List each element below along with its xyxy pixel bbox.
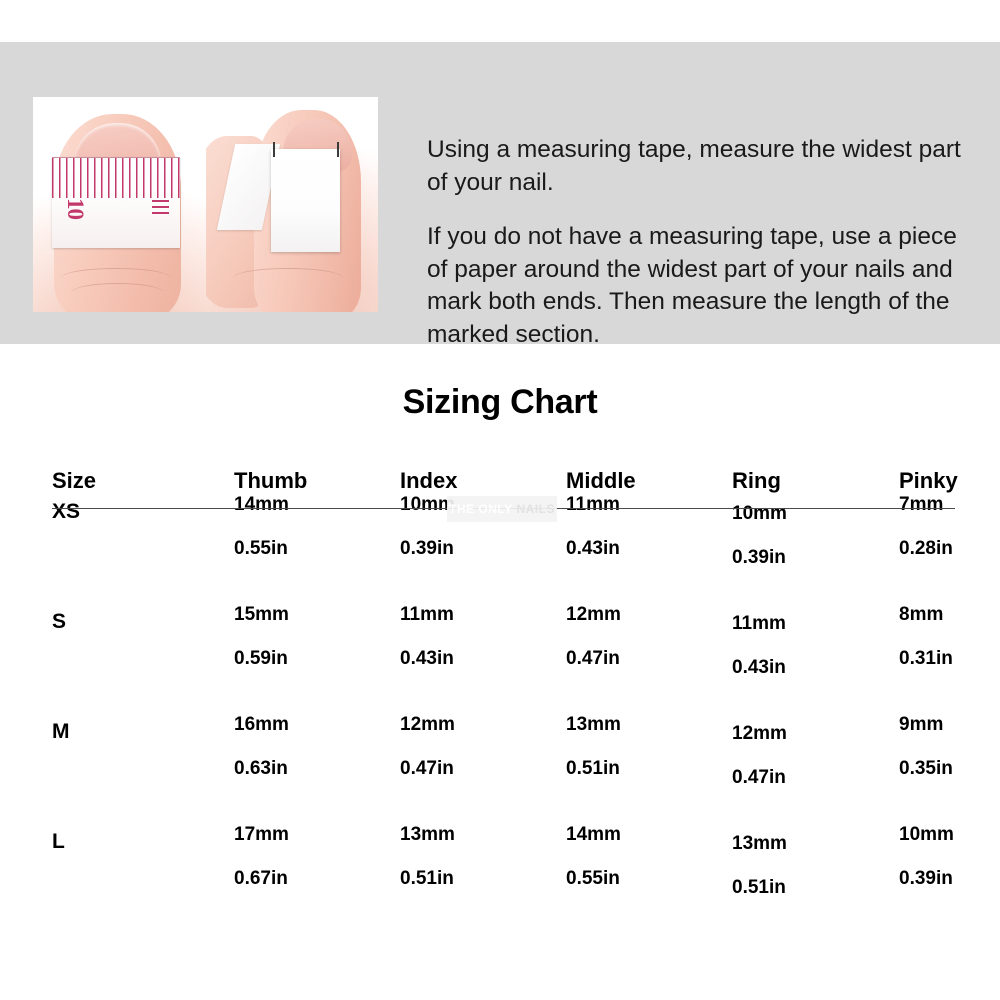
row-size-label: M [52, 714, 234, 824]
cell-middle: 13mm 0.51in [566, 714, 732, 824]
cell-value-mm: 8mm [899, 604, 955, 626]
tape-ticks [52, 158, 180, 198]
cell-value-mm: 12mm [732, 723, 899, 745]
instruction-photo-strip: 10 [33, 97, 378, 312]
table-row: M 16mm 0.63in 12mm 0.47in 13mm 0.51in 12… [52, 714, 955, 824]
row-size-label: L [52, 824, 234, 934]
cell-thumb: 16mm 0.63in [234, 714, 400, 824]
cell-value-in: 0.28in [899, 538, 955, 560]
paper-strip-band [271, 149, 340, 252]
cell-value-in: 0.31in [899, 648, 955, 670]
sizing-chart-table: Size Thumb Index Middle Ring Pinky XS 14… [52, 468, 955, 934]
instruction-text-block: Using a measuring tape, measure the wide… [427, 134, 979, 351]
cell-index: 12mm 0.47in [400, 714, 566, 824]
cell-value-mm: 14mm [566, 824, 732, 846]
cell-middle: 12mm 0.47in [566, 604, 732, 714]
cell-value-in: 0.55in [566, 868, 732, 890]
column-header-thumb: Thumb [234, 468, 400, 494]
cell-value-mm: 10mm [400, 494, 566, 516]
cell-value-mm: 13mm [566, 714, 732, 736]
cell-value-mm: 11mm [400, 604, 566, 626]
cell-value-in: 0.51in [732, 877, 899, 899]
cell-value-in: 0.47in [566, 648, 732, 670]
cell-value-mm: 15mm [234, 604, 400, 626]
cell-ring: 10mm 0.39in [732, 494, 899, 604]
cell-value-mm: 11mm [566, 494, 732, 516]
instruction-paragraph-1: Using a measuring tape, measure the wide… [427, 134, 979, 199]
column-header-index: Index [400, 468, 566, 494]
cell-value-mm: 13mm [732, 833, 899, 855]
cell-thumb: 15mm 0.59in [234, 604, 400, 714]
cell-value-in: 0.67in [234, 868, 400, 890]
tape-measure-photo: 10 [33, 97, 206, 312]
cell-value-in: 0.35in [899, 758, 955, 780]
cell-ring: 12mm 0.47in [732, 714, 899, 824]
cell-value-mm: 14mm [234, 494, 400, 516]
cell-thumb: 17mm 0.67in [234, 824, 400, 934]
cell-value-in: 0.55in [234, 538, 400, 560]
cell-value-mm: 7mm [899, 494, 955, 516]
cell-value-in: 0.43in [732, 657, 899, 679]
cell-value-mm: 16mm [234, 714, 400, 736]
table-header-row: Size Thumb Index Middle Ring Pinky [52, 468, 955, 494]
cell-value-in: 0.43in [400, 648, 566, 670]
measuring-tape-band: 10 [52, 157, 180, 248]
table-row: S 15mm 0.59in 11mm 0.43in 12mm 0.47in 11… [52, 604, 955, 714]
cell-value-in: 0.51in [566, 758, 732, 780]
pen-mark-right [337, 142, 339, 157]
cell-value-in: 0.63in [234, 758, 400, 780]
pen-mark-left [273, 142, 275, 157]
table-header-rule [52, 508, 955, 509]
cell-pinky: 8mm 0.31in [899, 604, 955, 714]
cell-value-in: 0.47in [400, 758, 566, 780]
tape-number-label: 10 [62, 198, 88, 219]
cell-middle: 14mm 0.55in [566, 824, 732, 934]
instruction-paragraph-2: If you do not have a measuring tape, use… [427, 221, 979, 351]
table-row: XS 14mm 0.55in 10mm 0.39in 11mm 0.43in 1… [52, 494, 955, 604]
cell-pinky: 7mm 0.28in [899, 494, 955, 604]
column-header-pinky: Pinky [899, 468, 955, 494]
cell-value-in: 0.39in [732, 547, 899, 569]
cell-value-in: 0.51in [400, 868, 566, 890]
cell-index: 13mm 0.51in [400, 824, 566, 934]
table-row: L 17mm 0.67in 13mm 0.51in 14mm 0.55in 13… [52, 824, 955, 934]
row-size-label: S [52, 604, 234, 714]
column-header-middle: Middle [566, 468, 732, 494]
cell-value-mm: 11mm [732, 613, 899, 635]
cell-pinky: 9mm 0.35in [899, 714, 955, 824]
cell-value-mm: 12mm [566, 604, 732, 626]
column-header-ring: Ring [732, 468, 899, 494]
cell-index: 10mm 0.39in [400, 494, 566, 604]
cell-value-in: 0.43in [566, 538, 732, 560]
cell-value-in: 0.59in [234, 648, 400, 670]
cell-value-mm: 10mm [899, 824, 955, 846]
cell-value-mm: 12mm [400, 714, 566, 736]
cell-value-mm: 9mm [899, 714, 955, 736]
cell-value-in: 0.39in [899, 868, 955, 890]
instruction-band: 10 Using a measuring tape, measure the w… [0, 42, 1000, 344]
cell-value-mm: 10mm [732, 503, 899, 525]
row-size-label: XS [52, 494, 234, 604]
column-header-size: Size [52, 468, 234, 494]
tape-side-marks [152, 200, 170, 214]
cell-thumb: 14mm 0.55in [234, 494, 400, 604]
cell-value-mm: 17mm [234, 824, 400, 846]
cell-middle: 11mm 0.43in [566, 494, 732, 604]
cell-ring: 13mm 0.51in [732, 824, 899, 934]
paper-strip-photo [206, 97, 379, 312]
cell-value-mm: 13mm [400, 824, 566, 846]
cell-value-in: 0.39in [400, 538, 566, 560]
page-title: Sizing Chart [0, 383, 1000, 422]
cell-value-in: 0.47in [732, 767, 899, 789]
cell-pinky: 10mm 0.39in [899, 824, 955, 934]
cell-ring: 11mm 0.43in [732, 604, 899, 714]
cell-index: 11mm 0.43in [400, 604, 566, 714]
